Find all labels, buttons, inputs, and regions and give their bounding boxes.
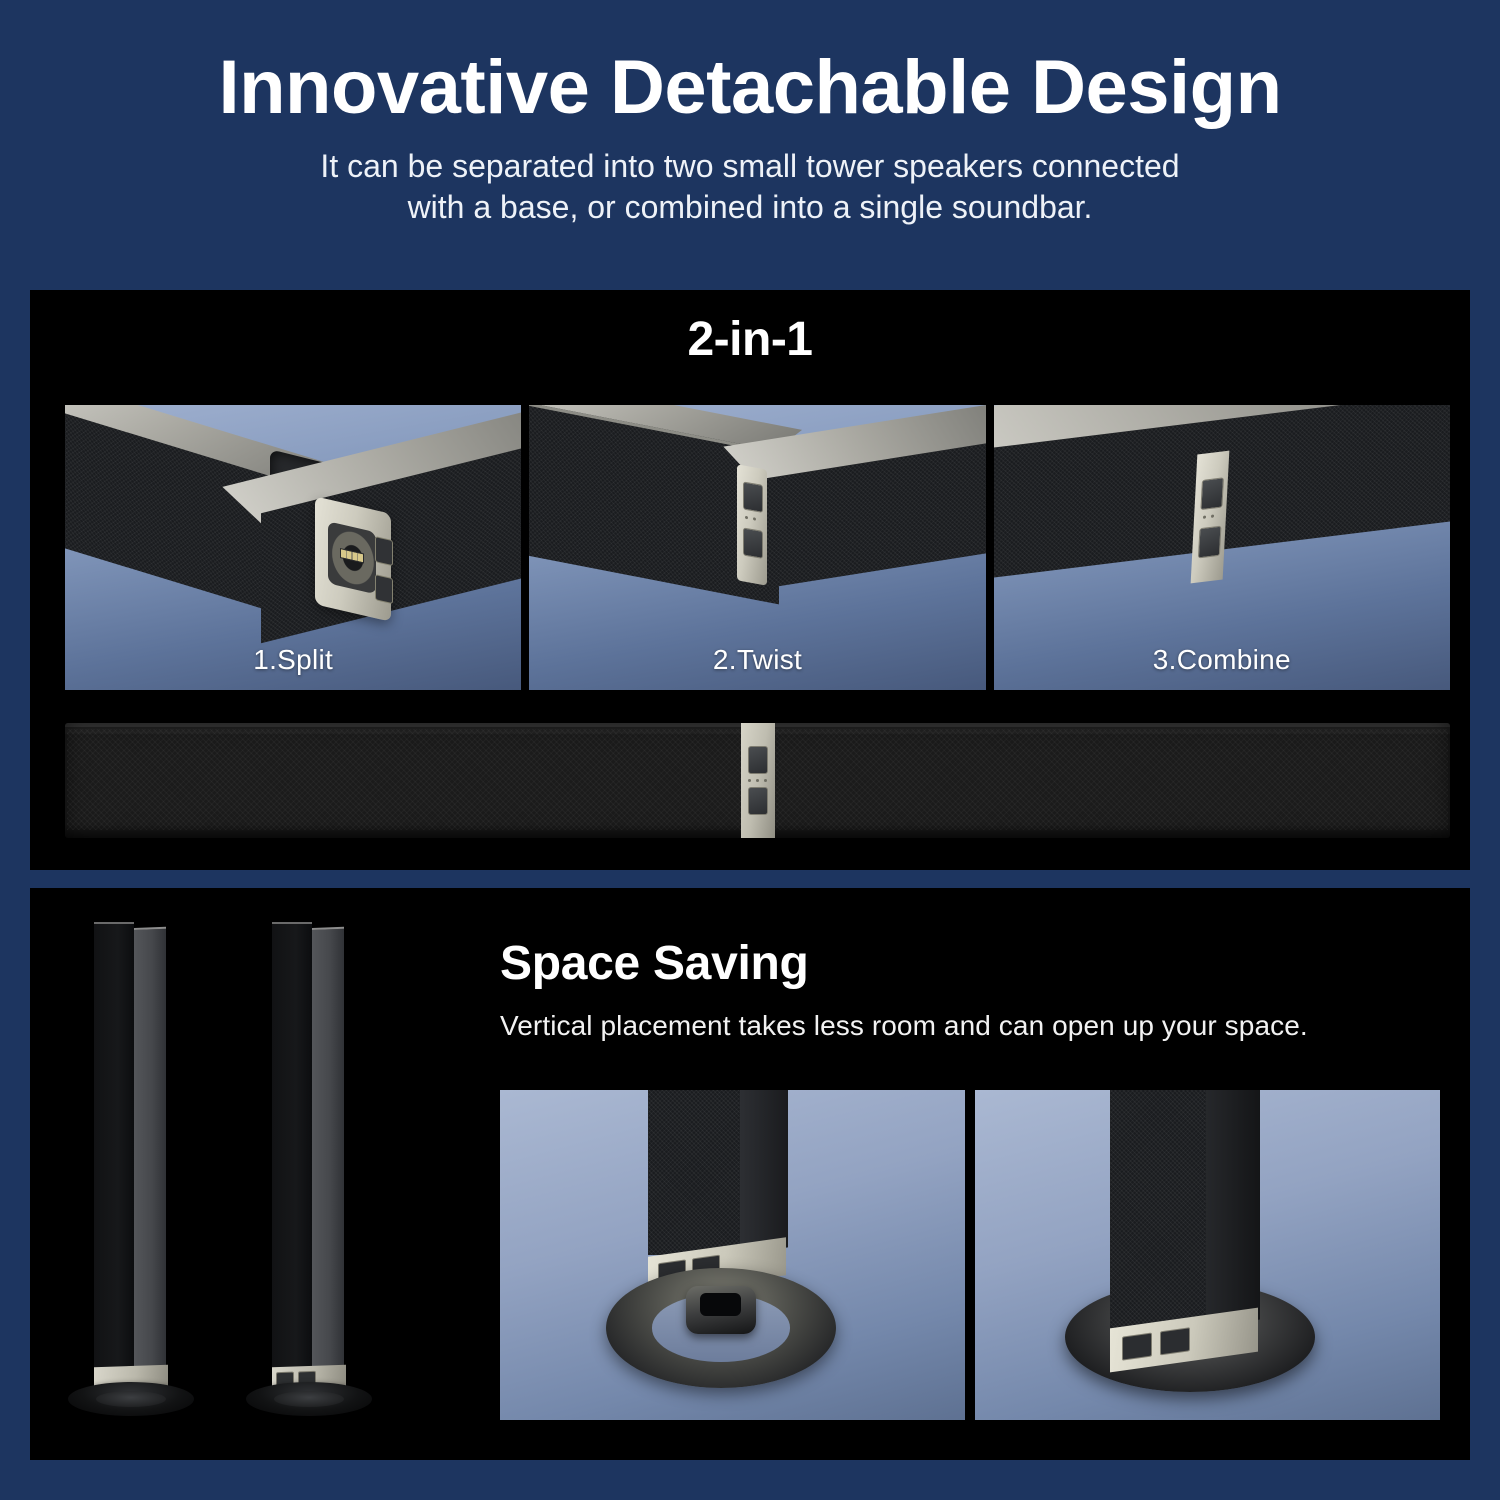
tower-side-face	[1206, 1090, 1260, 1328]
steps-row: 1.Split 2.Twist	[65, 405, 1450, 690]
page-title: Innovative Detachable Design	[0, 0, 1500, 128]
tower-speaker-mounted	[1110, 1090, 1260, 1328]
connector-button-upper	[1200, 477, 1224, 510]
page-subtitle: It can be separated into two small tower…	[0, 128, 1500, 228]
connector-button-lower	[743, 527, 763, 559]
page-header: Innovative Detachable Design It can be s…	[0, 0, 1500, 290]
space-saving-photo-row	[500, 1090, 1440, 1420]
led-indicator	[753, 517, 756, 521]
twist-connector-band	[737, 464, 767, 585]
space-saving-heading: Space Saving	[500, 936, 809, 991]
connector-button-upper	[743, 481, 763, 513]
led-indicator	[1203, 515, 1206, 518]
step-panel-combine: 3.Combine	[994, 405, 1450, 690]
end-cap-button-lower	[375, 574, 393, 604]
connector-led-row	[745, 516, 756, 521]
page-subtitle-line-2: with a base, or combined into a single s…	[408, 189, 1093, 225]
step-panel-twist: 2.Twist	[529, 405, 985, 690]
connector-led-row	[1203, 514, 1214, 518]
led-indicator	[756, 779, 759, 782]
photo-mounting-base	[500, 1090, 965, 1420]
tower-speaker-hovering	[648, 1090, 788, 1255]
tower-front-face	[648, 1090, 740, 1255]
twist-socket-male-icon	[328, 521, 376, 594]
tower-round-stand	[246, 1382, 372, 1416]
led-indicator	[1211, 514, 1214, 517]
tower-speaker-left	[94, 922, 166, 1382]
step-caption-combine: 3.Combine	[994, 644, 1450, 676]
two-in-one-heading: 2-in-1	[30, 312, 1470, 367]
led-indicator	[764, 779, 767, 782]
tower-side-face	[740, 1090, 788, 1255]
tower-side-face	[134, 927, 166, 1384]
step-caption-twist: 2.Twist	[529, 644, 985, 676]
tower-speaker-right	[272, 922, 344, 1382]
assembled-soundbar	[65, 723, 1450, 838]
twist-lock-hub-icon	[686, 1286, 756, 1334]
two-in-one-section: 2-in-1 1.Split	[30, 290, 1470, 870]
connector-button-lower	[1198, 526, 1222, 559]
connector-button-lower	[1160, 1327, 1190, 1355]
tower-speakers-group	[60, 910, 480, 1440]
tower-front-face	[1110, 1090, 1206, 1328]
tower-front-face	[94, 922, 134, 1384]
soundbar-right-end-cap	[315, 496, 391, 622]
connector-button-upper	[1122, 1332, 1152, 1360]
photo-mounted-speaker	[975, 1090, 1440, 1420]
step-panel-split: 1.Split	[65, 405, 521, 690]
connector-led-row	[748, 779, 767, 782]
tower-round-stand	[68, 1382, 194, 1416]
step-caption-split: 1.Split	[65, 644, 521, 676]
tower-side-face	[312, 927, 344, 1384]
connector-button-upper	[748, 746, 768, 774]
space-saving-subtitle: Vertical placement takes less room and c…	[500, 1010, 1440, 1042]
connector-button-lower	[748, 787, 768, 815]
space-saving-section: Space Saving Vertical placement takes le…	[30, 888, 1470, 1460]
soundbar-center-connector	[741, 723, 775, 838]
led-indicator	[745, 516, 748, 520]
contact-pins-icon	[340, 548, 364, 564]
led-indicator	[748, 779, 751, 782]
end-cap-button-upper	[375, 536, 393, 566]
tower-front-face	[272, 922, 312, 1384]
page-subtitle-line-1: It can be separated into two small tower…	[320, 148, 1179, 184]
combine-connector-band	[1190, 451, 1229, 584]
